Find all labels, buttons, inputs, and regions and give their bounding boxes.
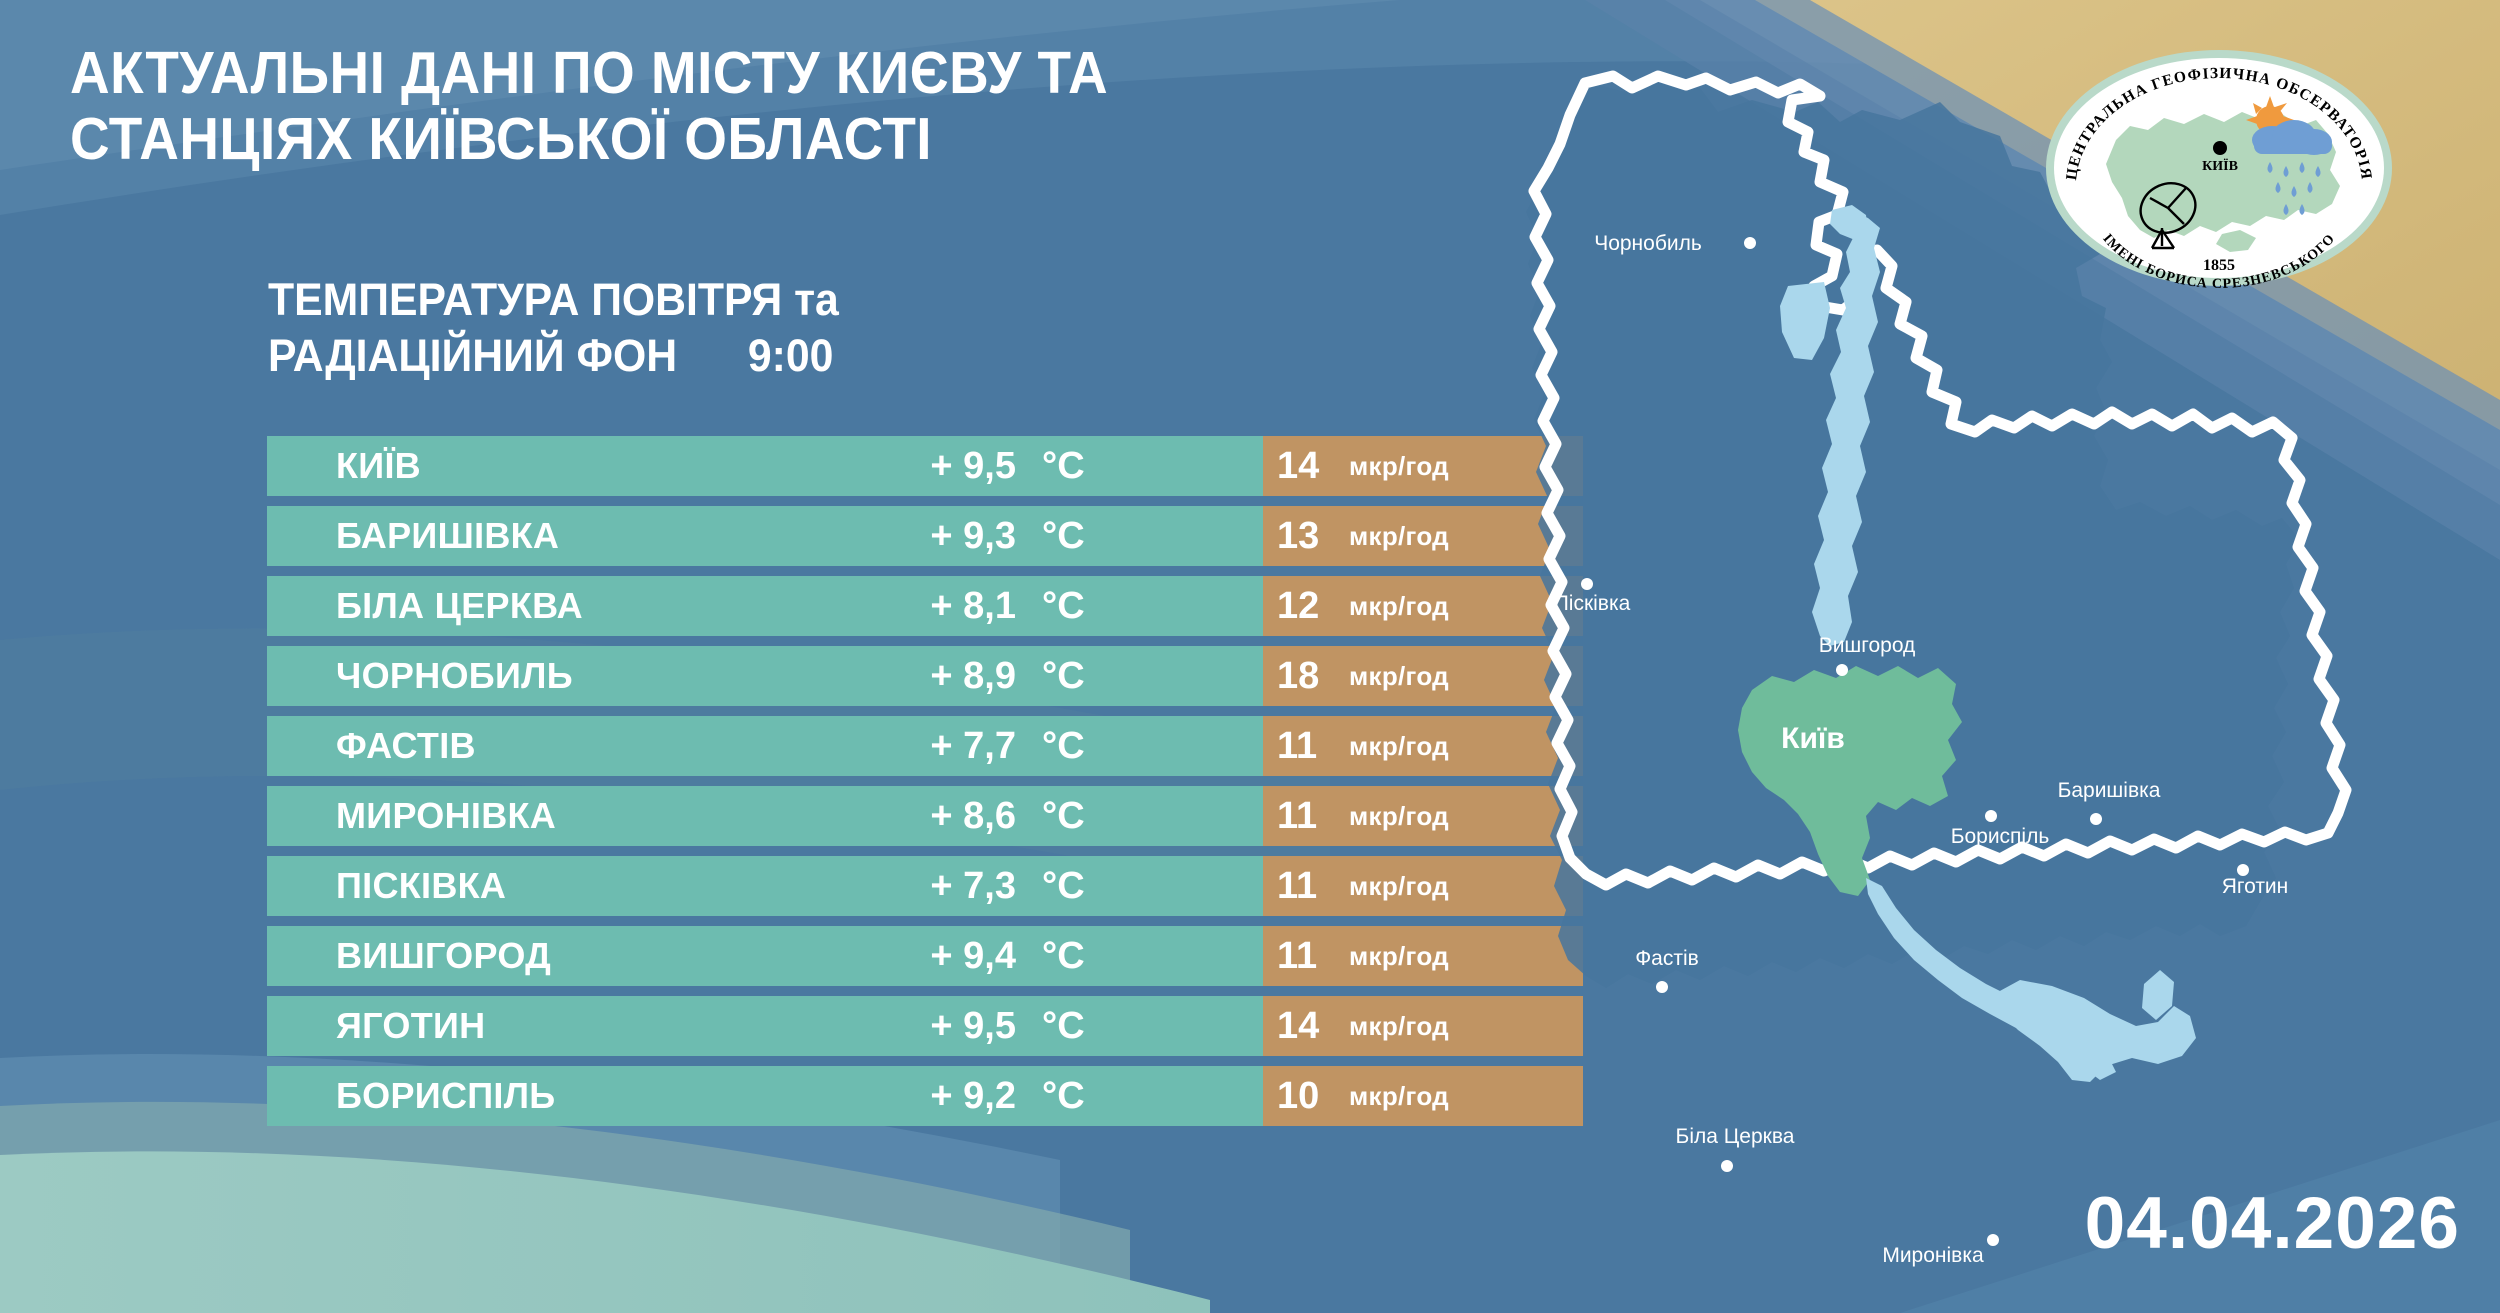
logo-svg: КИЇВ ЦЕНТРАЛЬНА ГЕОФІЗИЧНА ОБСЕРВАТОРІЯ … [2044,48,2394,288]
dot-piskivka [1581,578,1593,590]
station-name-cell: БІЛА ЦЕРКВА [267,576,846,636]
temperature-unit: °C [1042,935,1085,978]
temperature-unit: °C [1042,1075,1085,1118]
temperature-unit: °C [1042,1005,1085,1048]
radiation-value: 10 [1263,1075,1337,1118]
radiation-value: 12 [1263,585,1337,628]
map-city-label: Київ [1781,722,1845,755]
map-city-label: Вишгород [1819,634,1916,657]
page-title-line2: СТАНЦІЯХ КИЇВСЬКОЇ ОБЛАСТІ [70,106,1372,172]
logo-kyiv-dot [2213,141,2227,155]
map-city-label: Пісківка [1554,592,1631,615]
temperature-value: + 9,5 [846,445,1016,488]
temperature-cell: + 7,7°C [846,716,1263,776]
subtitle-line1-main: ТЕМПЕРАТУРА ПОВІТРЯ [268,274,782,325]
report-date: 04.04.2026 [2085,1182,2460,1265]
radiation-value: 13 [1263,515,1337,558]
table-row: БАРИШІВКА+ 9,3°C13мкр/год [267,506,1323,566]
dot-baryshivka [2090,813,2102,825]
subtitle-line1-suffix: та [794,274,839,325]
map-city-label: Чорнобиль [1594,232,1702,255]
map-city-label: Біла Церква [1676,1125,1795,1148]
station-name-cell: ВИШГОРОД [267,926,846,986]
table-row: БІЛА ЦЕРКВА+ 8,1°C12мкр/год [267,576,1323,636]
station-name-cell: ЧОРНОБИЛЬ [267,646,846,706]
temperature-cell: + 9,5°C [846,436,1263,496]
temperature-value: + 8,1 [846,585,1016,628]
radiation-value: 14 [1263,445,1337,488]
temperature-unit: °C [1042,795,1085,838]
temperature-value: + 9,4 [846,935,1016,978]
radiation-value: 11 [1263,795,1337,838]
radiation-value: 18 [1263,655,1337,698]
table-row: ВИШГОРОД+ 9,4°C11мкр/год [267,926,1323,986]
dot-boryspil [1985,810,1997,822]
station-name-cell: БАРИШІВКА [267,506,846,566]
logo-year: 1855 [2203,257,2235,274]
station-name-cell: ПІСКІВКА [267,856,846,916]
table-row: ФАСТІВ+ 7,7°C11мкр/год [267,716,1323,776]
station-name-cell: БОРИСПІЛЬ [267,1066,846,1126]
map-city-label: Бориспіль [1951,825,2050,848]
station-name-cell: МИРОНІВКА [267,786,846,846]
radiation-value: 11 [1263,865,1337,908]
temperature-value: + 7,7 [846,725,1016,768]
page-title: АКТУАЛЬНІ ДАНІ ПО МІСТУ КИЄВУ ТА СТАНЦІЯ… [70,40,1372,172]
temperature-unit: °C [1042,655,1085,698]
dot-chornobyl [1744,237,1756,249]
temperature-value: + 9,2 [846,1075,1016,1118]
radiation-value: 11 [1263,725,1337,768]
observation-time: 9:00 [748,330,834,381]
temperature-cell: + 9,5°C [846,996,1263,1056]
temperature-value: + 8,9 [846,655,1016,698]
dot-bila-tserkva [1721,1160,1733,1172]
station-name-cell: КИЇВ [267,436,846,496]
temperature-unit: °C [1042,445,1085,488]
dot-myronivka [1987,1234,1999,1246]
temperature-cell: + 9,3°C [846,506,1263,566]
table-row: КИЇВ+ 9,5°C14мкр/год [267,436,1323,496]
temperature-value: + 7,3 [846,865,1016,908]
temperature-value: + 9,5 [846,1005,1016,1048]
map-city-label: Фастів [1635,947,1699,970]
radiation-value: 14 [1263,1005,1337,1048]
observatory-logo: КИЇВ ЦЕНТРАЛЬНА ГЕОФІЗИЧНА ОБСЕРВАТОРІЯ … [2044,48,2394,288]
table-row: ЯГОТИН+ 9,5°C14мкр/год [267,996,1323,1056]
subtitle-line2-main: РАДІАЦІЙНИЙ ФОН [268,330,677,381]
map-city-label: Миронівка [1882,1244,1984,1267]
subtitle-line2: РАДІАЦІЙНИЙ ФОН 9:00 [268,328,839,384]
map-city-label: Баришівка [2058,779,2161,802]
temperature-unit: °C [1042,725,1085,768]
temperature-unit: °C [1042,865,1085,908]
temperature-cell: + 9,2°C [846,1066,1263,1126]
page-title-line1: АКТУАЛЬНІ ДАНІ ПО МІСТУ КИЄВУ ТА [70,40,1108,106]
table-row: ЧОРНОБИЛЬ+ 8,9°C18мкр/год [267,646,1323,706]
subtitle-line1: ТЕМПЕРАТУРА ПОВІТРЯ та [268,272,839,328]
temperature-cell: + 8,6°C [846,786,1263,846]
station-name-cell: ФАСТІВ [267,716,846,776]
temperature-unit: °C [1042,585,1085,628]
station-name-cell: ЯГОТИН [267,996,846,1056]
measurements-table: КИЇВ+ 9,5°C14мкр/годБАРИШІВКА+ 9,3°C13мк… [267,436,1323,1136]
table-row: БОРИСПІЛЬ+ 9,2°C10мкр/год [267,1066,1323,1126]
temperature-cell: + 8,9°C [846,646,1263,706]
radiation-value: 11 [1263,935,1337,978]
table-row: ПІСКІВКА+ 7,3°C11мкр/год [267,856,1323,916]
temperature-cell: + 8,1°C [846,576,1263,636]
dot-fastiv [1656,981,1668,993]
page-subtitle: ТЕМПЕРАТУРА ПОВІТРЯ та РАДІАЦІЙНИЙ ФОН 9… [268,272,839,385]
dot-vyshhorod [1836,664,1848,676]
temperature-value: + 9,3 [846,515,1016,558]
table-row: МИРОНІВКА+ 8,6°C11мкр/год [267,786,1323,846]
temperature-unit: °C [1042,515,1085,558]
logo-kyiv-label: КИЇВ [2202,158,2238,174]
temperature-cell: + 7,3°C [846,856,1263,916]
map-city-label: Яготин [2222,875,2289,898]
temperature-value: + 8,6 [846,795,1016,838]
temperature-cell: + 9,4°C [846,926,1263,986]
